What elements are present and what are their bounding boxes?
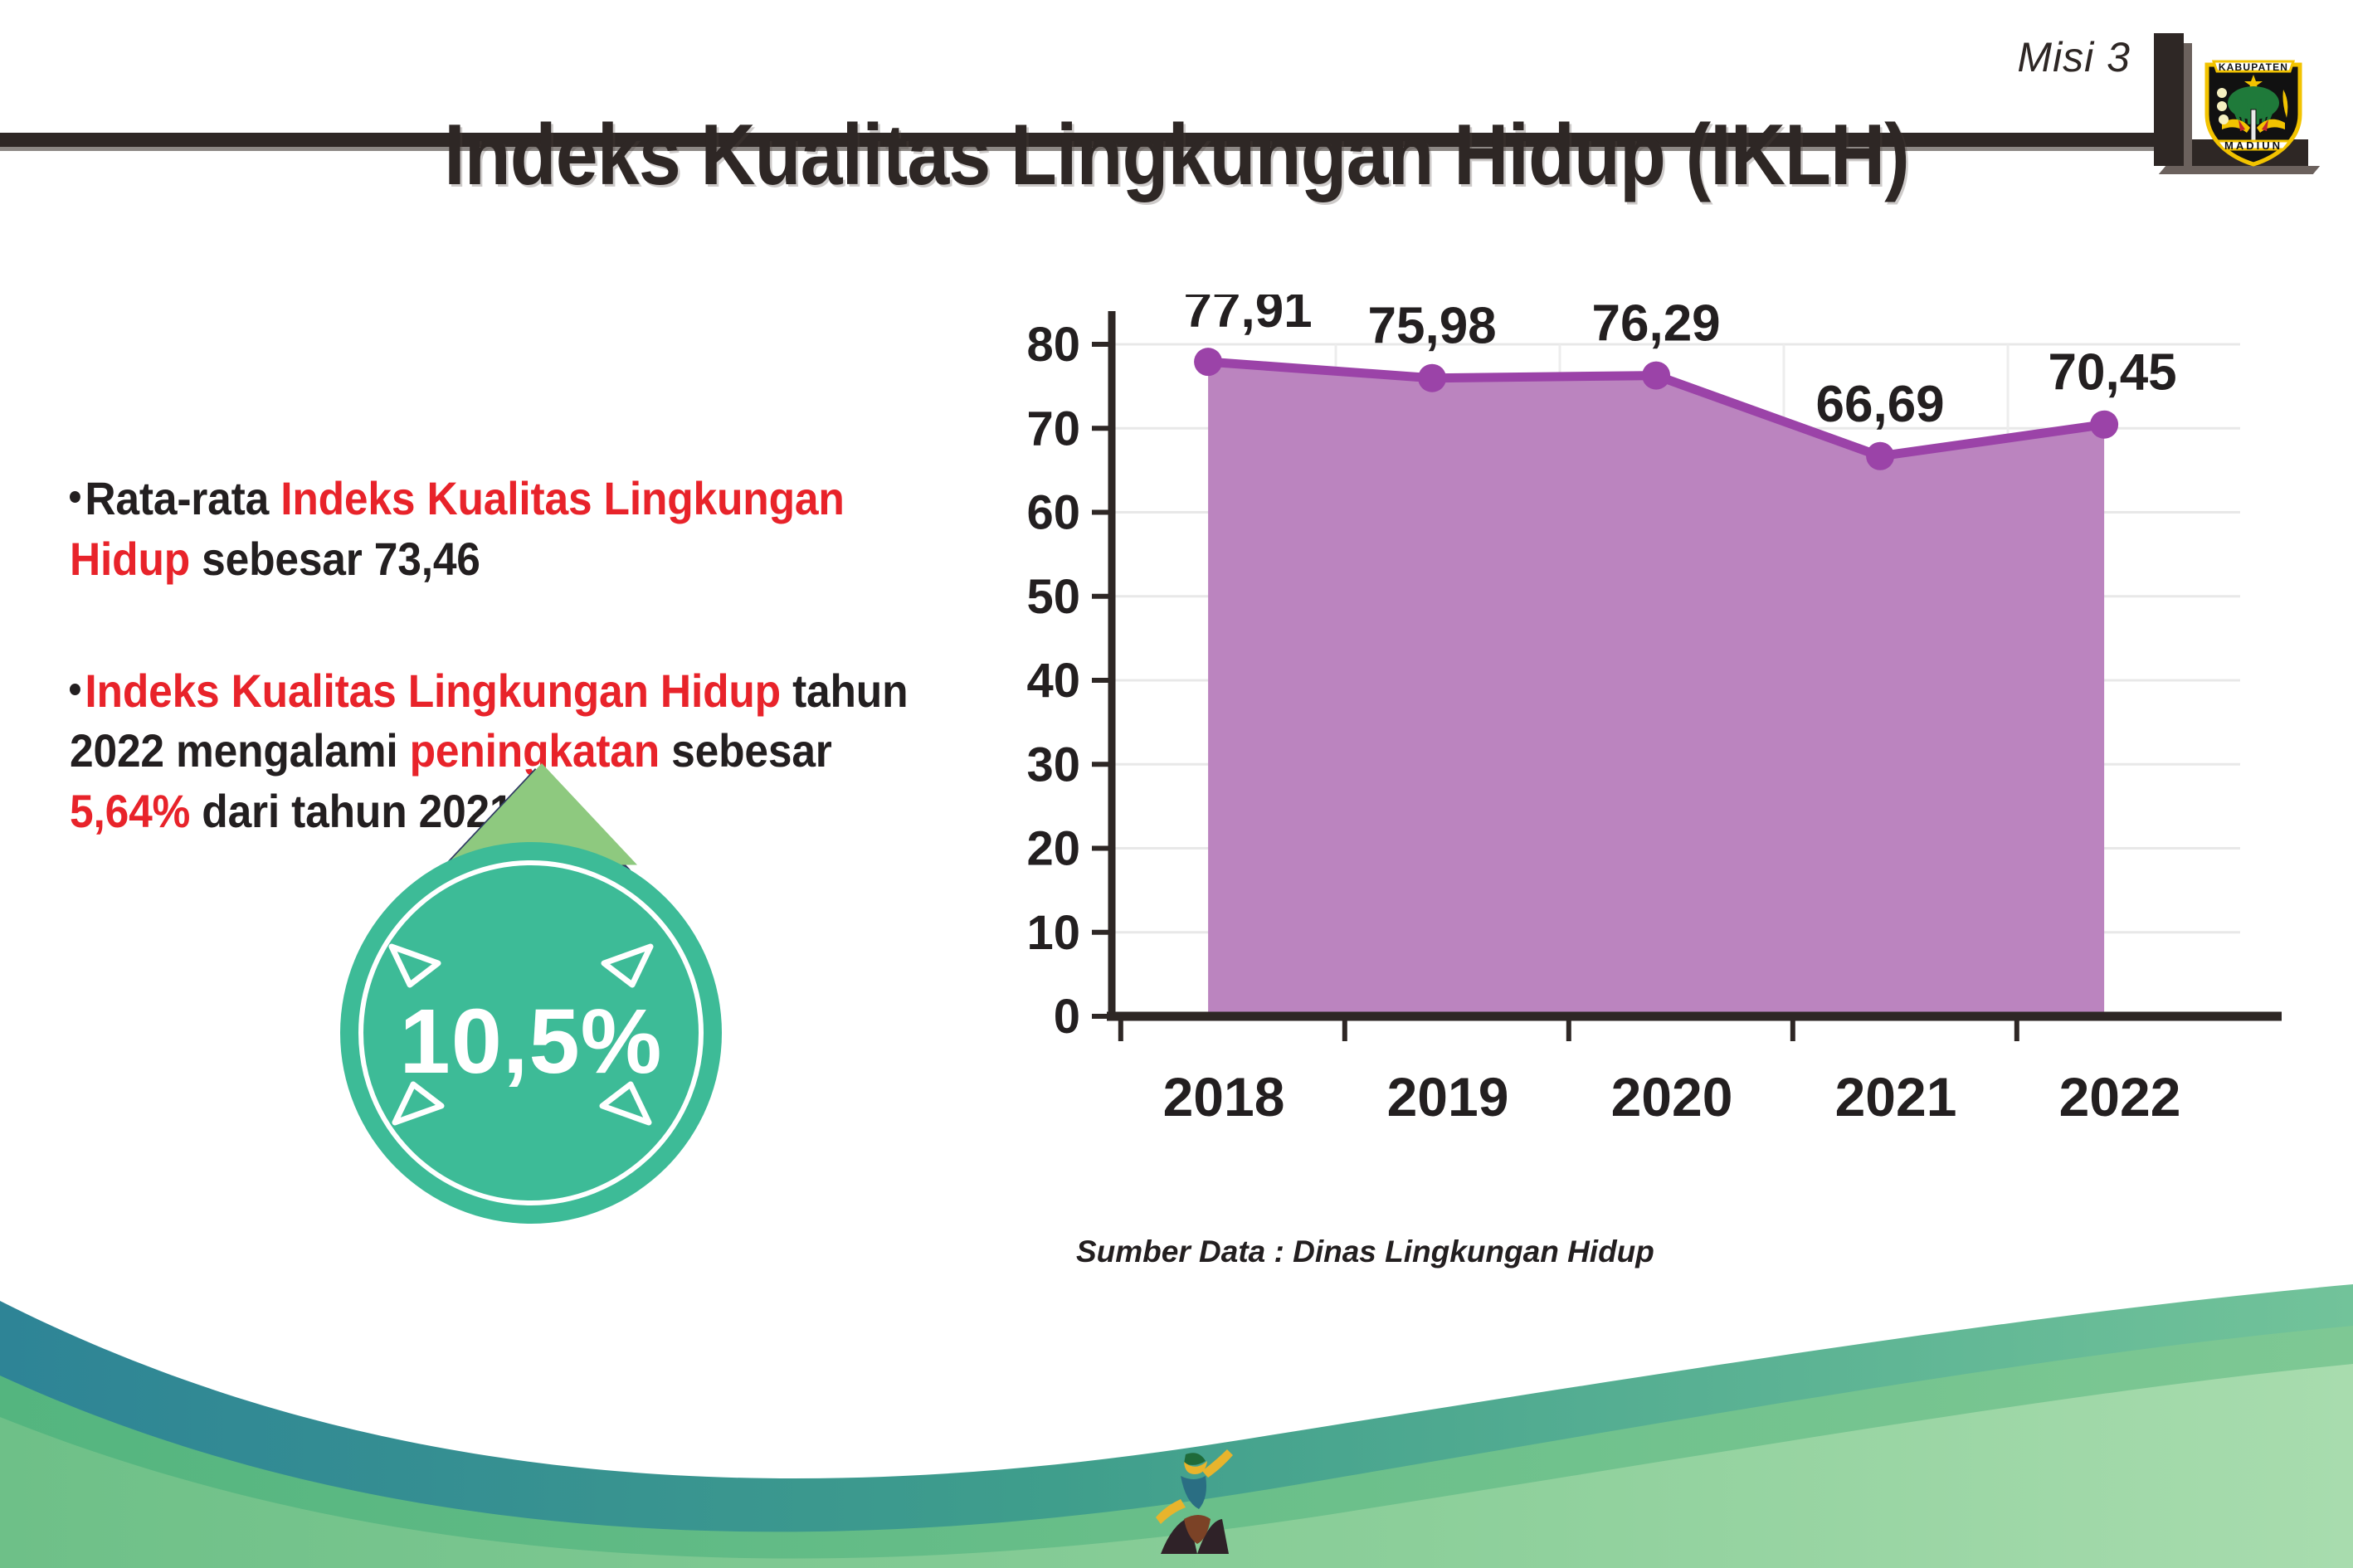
x-tick-label: 2019: [1387, 1066, 1509, 1127]
y-tick-label: 60: [1026, 486, 1080, 540]
data-point-label: 66,69: [1816, 376, 1945, 433]
y-tick-label: 80: [1026, 318, 1080, 372]
bullet-1-segment-4: 5,64%: [70, 785, 190, 837]
data-point-marker: [1418, 364, 1446, 392]
data-point-marker: [1866, 442, 1894, 470]
y-tick-label: 10: [1026, 906, 1080, 960]
data-point-marker: [1194, 348, 1222, 376]
data-point-marker: [1642, 362, 1670, 390]
data-point-label: 70,45: [2049, 344, 2177, 402]
svg-text:MADIUN: MADIUN: [2224, 139, 2282, 152]
dancing-figure-icon: [1147, 1448, 1239, 1560]
area-fill: [1208, 362, 2104, 1016]
bullet-0-segment-2: sebesar 73,46: [190, 533, 480, 585]
y-tick-label: 20: [1026, 822, 1080, 876]
kabupaten-madiun-crest-icon: KABUPATEN MADIUN: [2197, 43, 2310, 168]
y-tick-label: 40: [1026, 654, 1080, 708]
data-point-marker: [2090, 411, 2118, 439]
badge-percentage: 10,5%: [340, 989, 722, 1094]
x-tick-label: 2021: [1835, 1066, 1957, 1127]
x-tick-label: 2020: [1611, 1066, 1733, 1127]
y-tick-label: 0: [1054, 990, 1080, 1044]
data-point-label: 75,98: [1368, 298, 1497, 355]
bullet-1-segment-0: Indeks Kualitas Lingkungan Hidup: [85, 665, 781, 717]
y-tick-label: 70: [1026, 402, 1080, 455]
bullet-0-segment-0: Rata-rata: [85, 472, 280, 524]
infographic-slide: Misi 3 KABUPATEN MADIUN Indeks Kualitas …: [0, 0, 2353, 1568]
bullet-dot: [70, 491, 80, 503]
mission-label: Misi 3: [2017, 33, 2131, 81]
y-tick-label: 30: [1026, 738, 1080, 791]
y-tick-label: 50: [1026, 570, 1080, 624]
bullet-dot: [70, 684, 80, 695]
source-note: Sumber Data : Dinas Lingkungan Hidup: [1076, 1234, 1654, 1269]
x-tick-label: 2022: [2059, 1066, 2181, 1127]
page-title: Indeks Kualitas Lingkungan Hidup (IKLH): [141, 106, 2212, 205]
list-item: Rata-rata Indeks Kualitas Lingkungan Hid…: [70, 469, 924, 590]
data-point-label: 76,29: [1592, 295, 1721, 353]
increase-badge: 10,5%: [330, 763, 753, 1228]
data-point-label: 77,91: [1184, 295, 1313, 338]
x-tick-label: 2018: [1163, 1066, 1285, 1127]
svg-text:KABUPATEN: KABUPATEN: [2219, 61, 2288, 73]
chart-canvas: 010203040506070802018201920202021202277,…: [987, 295, 2282, 1207]
iklh-area-chart: 010203040506070802018201920202021202277,…: [987, 295, 2282, 1207]
